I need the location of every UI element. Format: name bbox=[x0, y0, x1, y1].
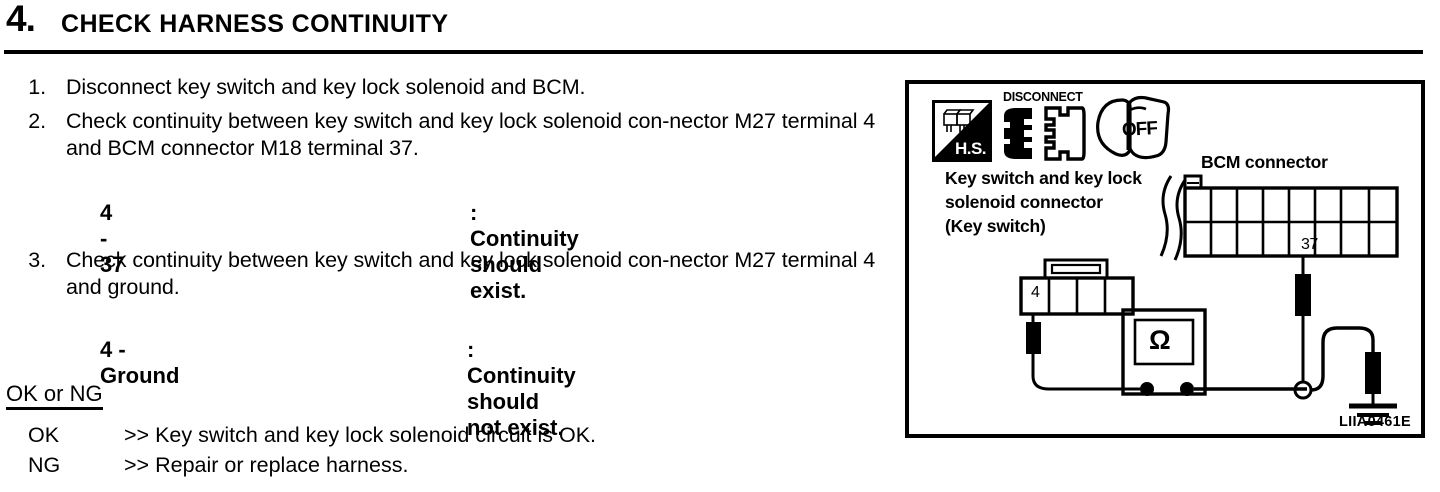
probe-terminal-37 bbox=[1295, 274, 1311, 316]
instruction-text: Check continuity between key switch and … bbox=[66, 247, 886, 301]
instruction-text: Check continuity between key switch and … bbox=[66, 108, 886, 162]
bcm-terminal-number: 37 bbox=[1301, 236, 1318, 254]
instruction-number: 3. bbox=[0, 247, 46, 274]
instruction-number: 1. bbox=[0, 74, 46, 101]
circuit-artwork bbox=[909, 84, 1429, 442]
judgement-key: NG bbox=[28, 452, 98, 478]
hs-icon-label: H.S. bbox=[955, 139, 986, 159]
judgement-text: >> Key switch and key lock solenoid circ… bbox=[124, 422, 864, 448]
judgement-text: >> Repair or replace harness. bbox=[124, 452, 864, 478]
bcm-connector bbox=[1185, 176, 1397, 256]
spec-terminals: 4 - Ground bbox=[100, 337, 179, 389]
judgement-title: OK or NG bbox=[6, 382, 103, 410]
ohmmeter-terminal-right bbox=[1180, 382, 1194, 396]
page-heading: 4. CHECK HARNESS CONTINUITY bbox=[6, 2, 866, 46]
probe-terminal-4 bbox=[1026, 322, 1041, 354]
judgement-key: OK bbox=[28, 422, 98, 448]
wiring-diagram-panel: H.S. DISCONNECT OFF Key switch and key l… bbox=[905, 80, 1425, 438]
ohmmeter-terminal-left bbox=[1140, 382, 1154, 396]
step-number: 4. bbox=[6, 0, 35, 40]
instruction-text: Disconnect key switch and key lock solen… bbox=[66, 74, 886, 101]
probe-ground bbox=[1365, 352, 1381, 394]
page-title: CHECK HARNESS CONTINUITY bbox=[61, 10, 448, 39]
ohm-symbol: Ω bbox=[1149, 327, 1171, 354]
key-switch-terminal-number: 4 bbox=[1031, 284, 1039, 302]
figure-id: LIIA0461E bbox=[1339, 414, 1411, 430]
hs-icon-connector-glyph bbox=[941, 108, 977, 136]
instruction-number: 2. bbox=[0, 108, 46, 135]
bcm-harness-wave bbox=[1161, 176, 1185, 260]
lead-ground bbox=[1194, 328, 1373, 390]
heading-divider bbox=[4, 50, 1423, 54]
